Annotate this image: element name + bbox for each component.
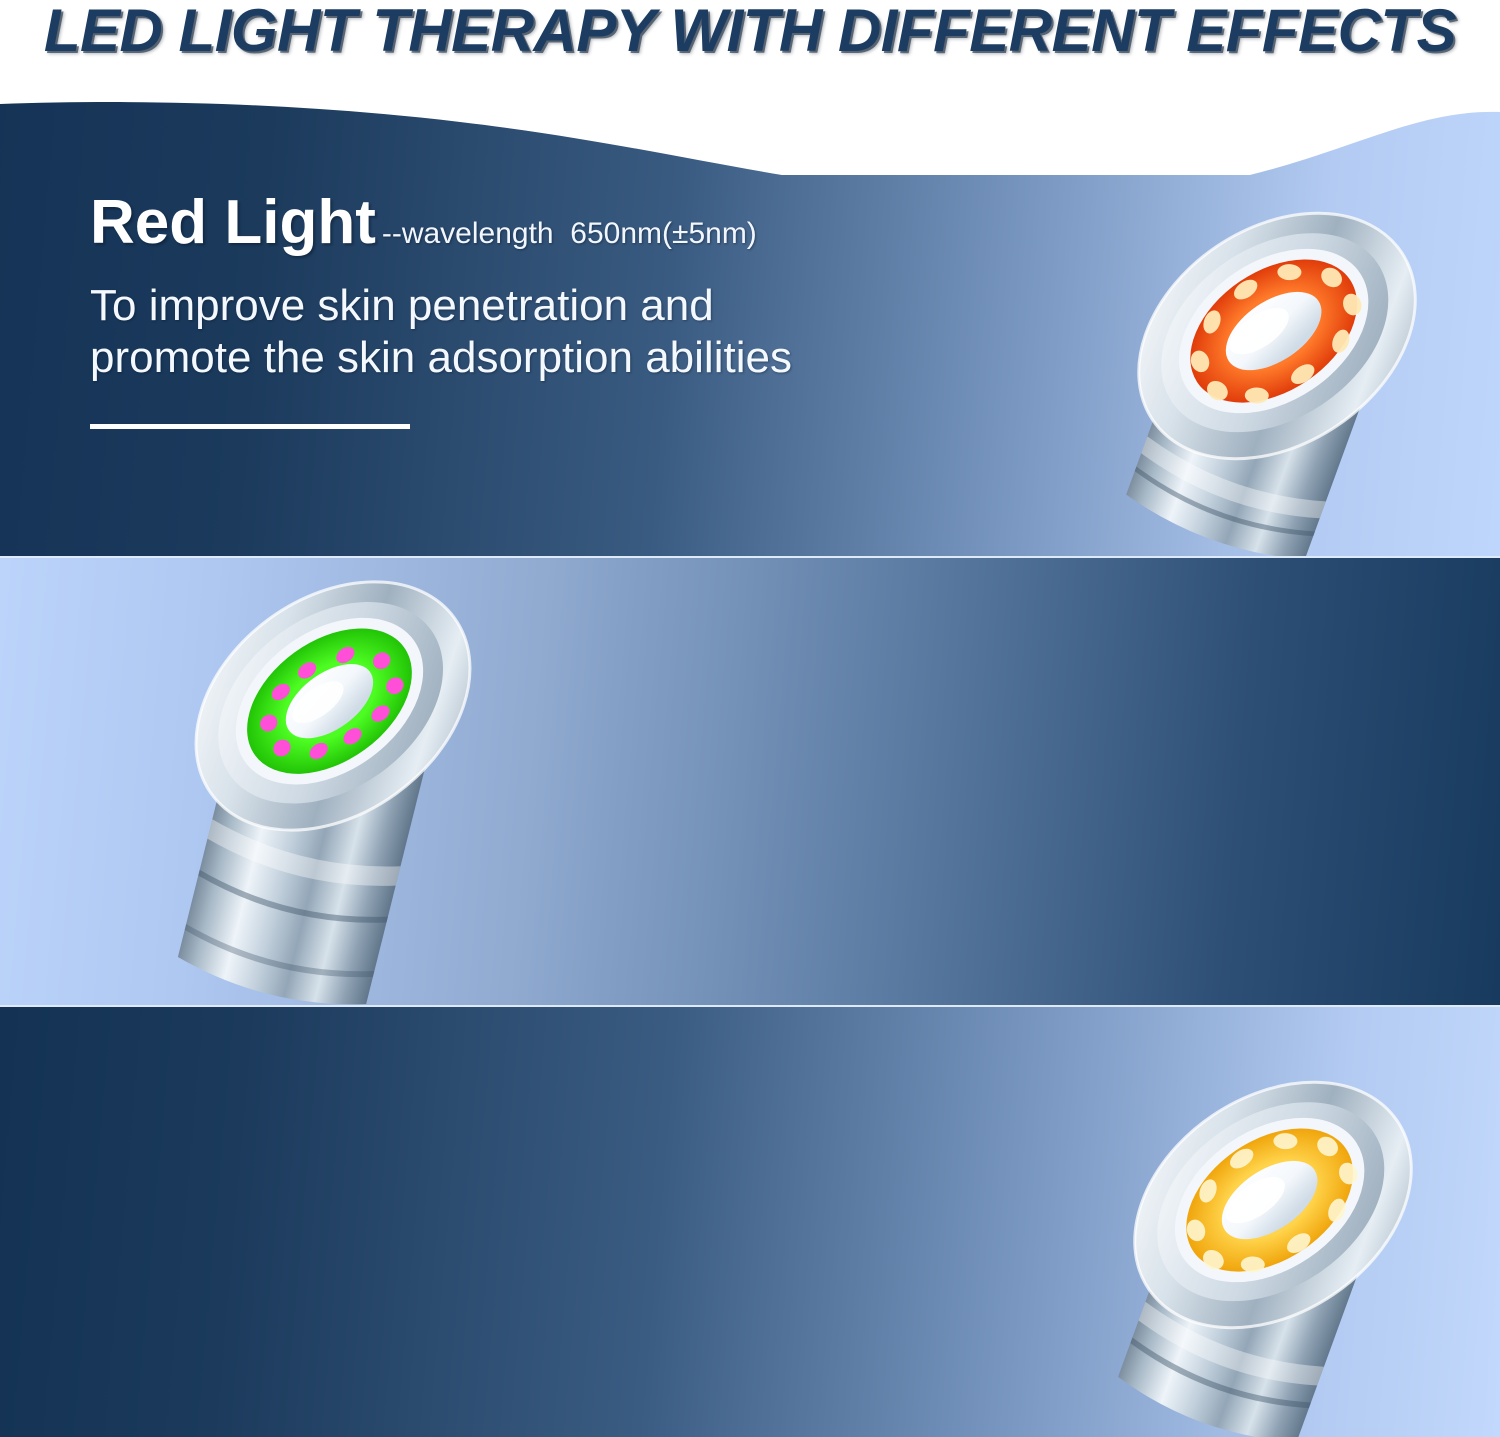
device-illustration-green bbox=[118, 558, 558, 1005]
wavelength-red: --wavelength 650nm(±5nm) bbox=[382, 217, 757, 251]
description-red-line2: promote the skin adsorption abilities bbox=[90, 332, 792, 384]
text-block-red: Red Light --wavelength 650nm(±5nm) To im… bbox=[90, 192, 792, 429]
device-red-light bbox=[1062, 208, 1500, 556]
heading-red: Red Light bbox=[90, 192, 376, 254]
panel-separator-2 bbox=[0, 1005, 1500, 1007]
section-green-light: Green Light --wavelength 520nm(±5nm) To … bbox=[0, 558, 1500, 1005]
infographic-page: LED LIGHT THERAPY WITH DIFFERENT EFFECTS bbox=[0, 0, 1500, 1437]
device-illustration-yellow bbox=[1058, 1079, 1498, 1437]
accent-rule-red bbox=[90, 424, 410, 429]
title-banner: LED LIGHT THERAPY WITH DIFFERENT EFFECTS bbox=[0, 0, 1500, 100]
heading-row-red: Red Light --wavelength 650nm(±5nm) bbox=[90, 192, 792, 254]
device-illustration-red bbox=[1062, 208, 1500, 556]
description-red-line1: To improve skin penetration and bbox=[90, 280, 792, 332]
panel-separator-1 bbox=[0, 556, 1500, 558]
device-green-light bbox=[118, 558, 558, 1005]
page-title: LED LIGHT THERAPY WITH DIFFERENT EFFECTS bbox=[44, 0, 1456, 65]
description-red: To improve skin penetration and promote … bbox=[90, 280, 792, 384]
device-yellow-light bbox=[1058, 1079, 1498, 1437]
section-yellow-light: Yellow Light --wavelength 590nm(±5nm) To… bbox=[0, 1007, 1500, 1437]
